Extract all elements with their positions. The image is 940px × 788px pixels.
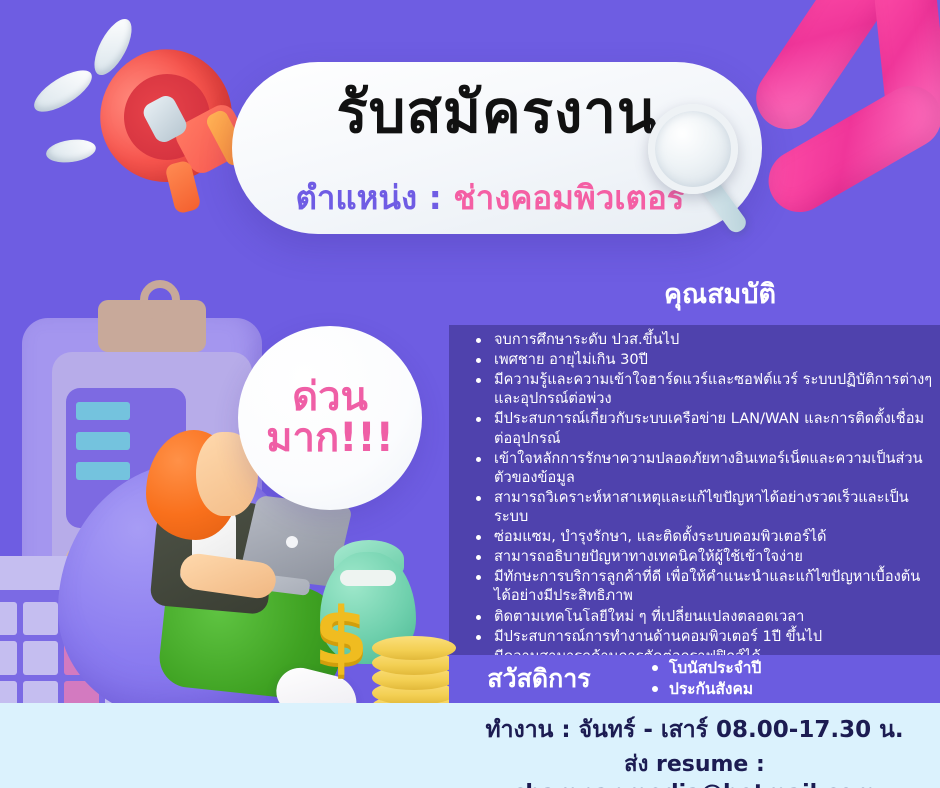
magnifying-glass-icon bbox=[648, 104, 768, 234]
urgent-badge-text: ด่วน มาก!!! bbox=[266, 377, 394, 459]
urgent-badge: ด่วน มาก!!! bbox=[238, 326, 422, 510]
sound-wave-icon bbox=[45, 137, 98, 166]
benefits-heading: สวัสดิการ bbox=[449, 659, 629, 699]
list-item: โบนัสประจำปี bbox=[649, 658, 940, 679]
laptop-logo bbox=[286, 536, 298, 548]
benefits-band: สวัสดิการ โบนัสประจำปี ประกันสังคม bbox=[449, 655, 940, 703]
money-bag-tie bbox=[340, 570, 396, 586]
list-item: สามารถวิเคราะห์หาสาเหตุและแก้ไขปัญหาได้อ… bbox=[472, 488, 934, 526]
sound-wave-icon bbox=[28, 62, 98, 119]
qualifications-heading: คุณสมบัติ bbox=[560, 272, 880, 315]
coin bbox=[372, 636, 456, 660]
position-label: ตำแหน่ง : bbox=[295, 178, 441, 217]
list-item: มีประสบการณ์เกี่ยวกับระบบเครือข่าย LAN/W… bbox=[472, 409, 934, 447]
list-item: จบการศึกษาระดับ ปวส.ขึ้นไป bbox=[472, 330, 934, 349]
list-item: เข้าใจหลักการรักษาความปลอดภัยทางอินเทอร์… bbox=[472, 449, 934, 487]
calendar-cell bbox=[23, 602, 58, 635]
calendar-cell bbox=[0, 641, 17, 674]
dollar-sign-icon: $ bbox=[314, 592, 368, 682]
job-recruitment-poster: รับสมัครงาน ตำแหน่ง : ช่างคอมพิวเตอร์ คุ… bbox=[0, 0, 940, 788]
list-item: มีประสบการณ์การทำงานด้านคอมพิวเตอร์ 1ปี … bbox=[472, 627, 934, 646]
list-item: เพศชาย อายุไม่เกิน 30ปี bbox=[472, 350, 934, 369]
calendar-cell bbox=[23, 641, 58, 674]
work-hours-text: ทำงาน : จันทร์ - เสาร์ 08.00-17.30 น. bbox=[449, 712, 940, 748]
list-item: มีทักษะการบริการลูกค้าที่ดี เพื่อให้คำแน… bbox=[472, 567, 934, 605]
qualifications-list: จบการศึกษาระดับ ปวส.ขึ้นไป เพศชาย อายุไม… bbox=[472, 330, 934, 707]
magnifier-lens bbox=[648, 104, 738, 194]
calendar-cell bbox=[0, 602, 17, 635]
clipboard-line-3 bbox=[76, 462, 130, 480]
clipboard-line-2 bbox=[76, 432, 130, 450]
list-item: สามารถอธิบายปัญหาทางเทคนิคให้ผู้ใช้เข้าใ… bbox=[472, 547, 934, 566]
benefits-list: โบนัสประจำปี ประกันสังคม bbox=[629, 658, 940, 700]
list-item: ติดตามเทคโนโลยีใหม่ ๆ ที่เปลี่ยนแปลงตลอด… bbox=[472, 607, 934, 626]
list-item: ซ่อมแซม, บำรุงรักษา, และติดตั้งระบบคอมพิ… bbox=[472, 527, 934, 546]
contact-email-text: ส่ง resume : chamnanmedia@hotmail.com bbox=[449, 746, 940, 788]
list-item: มีความรู้และความเข้าใจฮาร์ดแวร์และซอฟต์แ… bbox=[472, 370, 934, 408]
clipboard-line-1 bbox=[76, 402, 130, 420]
list-item: ประกันสังคม bbox=[649, 679, 940, 700]
clipboard-clip-ring bbox=[140, 280, 180, 320]
